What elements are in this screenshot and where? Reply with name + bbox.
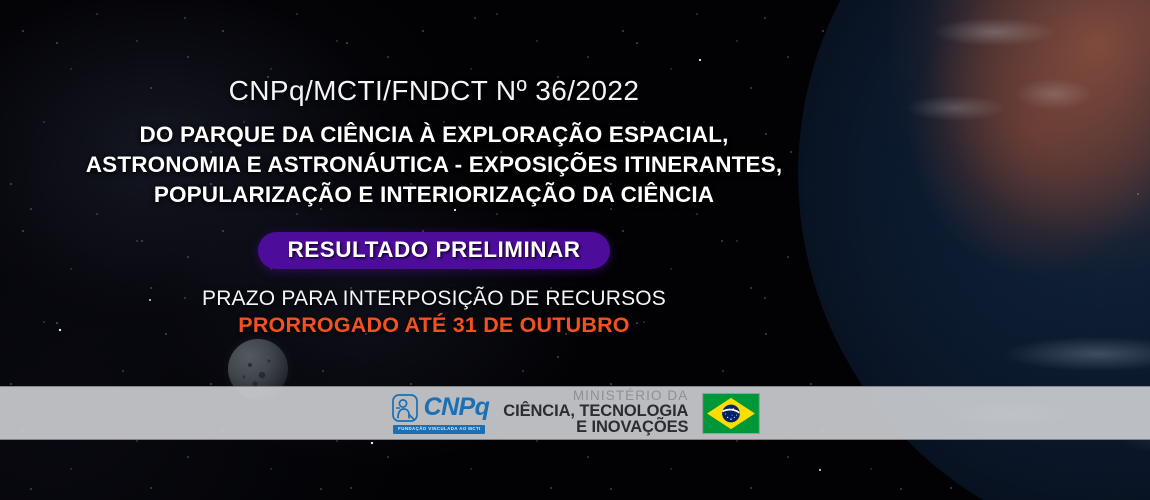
banner-title: DO PARQUE DA CIÊNCIA À EXPLORAÇÃO ESPACI… xyxy=(86,120,782,210)
ministry-line-1: MINISTÉRIO DA xyxy=(503,389,688,403)
brazil-flag-icon xyxy=(702,393,760,434)
deadline-value: PRORROGADO ATÉ 31 DE OUTUBRO xyxy=(238,313,629,338)
banner-title-line-1: DO PARQUE DA CIÊNCIA À EXPLORAÇÃO ESPACI… xyxy=(86,120,782,150)
banner-title-line-3: POPULARIZAÇÃO E INTERIORIZAÇÃO DA CIÊNCI… xyxy=(86,180,782,210)
cnpq-logo[interactable]: CNPq FUNDAÇÃO VINCULADA AO MCTI xyxy=(390,393,490,434)
cnpq-result-banner: CNPq/MCTI/FNDCT Nº 36/2022 DO PARQUE DA … xyxy=(0,0,1150,500)
cnpq-tagline-bar: FUNDAÇÃO VINCULADA AO MCTI xyxy=(393,425,485,434)
cnpq-logo-row: CNPq xyxy=(390,393,490,423)
banner-title-line-2: ASTRONOMIA E ASTRONÁUTICA - EXPOSIÇÕES I… xyxy=(86,150,782,180)
cnpq-head-icon xyxy=(390,393,420,423)
footer-logo-bar: CNPq FUNDAÇÃO VINCULADA AO MCTI MINISTÉR… xyxy=(0,386,1150,440)
status-badge[interactable]: RESULTADO PRELIMINAR xyxy=(258,232,611,269)
ministry-line-2: CIÊNCIA, TECNOLOGIA xyxy=(503,403,688,420)
deadline-label: PRAZO PARA INTERPOSIÇÃO DE RECURSOS xyxy=(202,287,666,311)
call-number: CNPq/MCTI/FNDCT Nº 36/2022 xyxy=(229,76,640,107)
banner-content: CNPq/MCTI/FNDCT Nº 36/2022 DO PARQUE DA … xyxy=(0,0,868,386)
cnpq-wordmark: CNPq xyxy=(424,395,490,420)
ministry-logo[interactable]: MINISTÉRIO DA CIÊNCIA, TECNOLOGIA E INOV… xyxy=(503,389,688,437)
ministry-line-3: E INOVAÇÕES xyxy=(503,419,688,436)
cnpq-tagline: FUNDAÇÃO VINCULADA AO MCTI xyxy=(398,427,481,431)
